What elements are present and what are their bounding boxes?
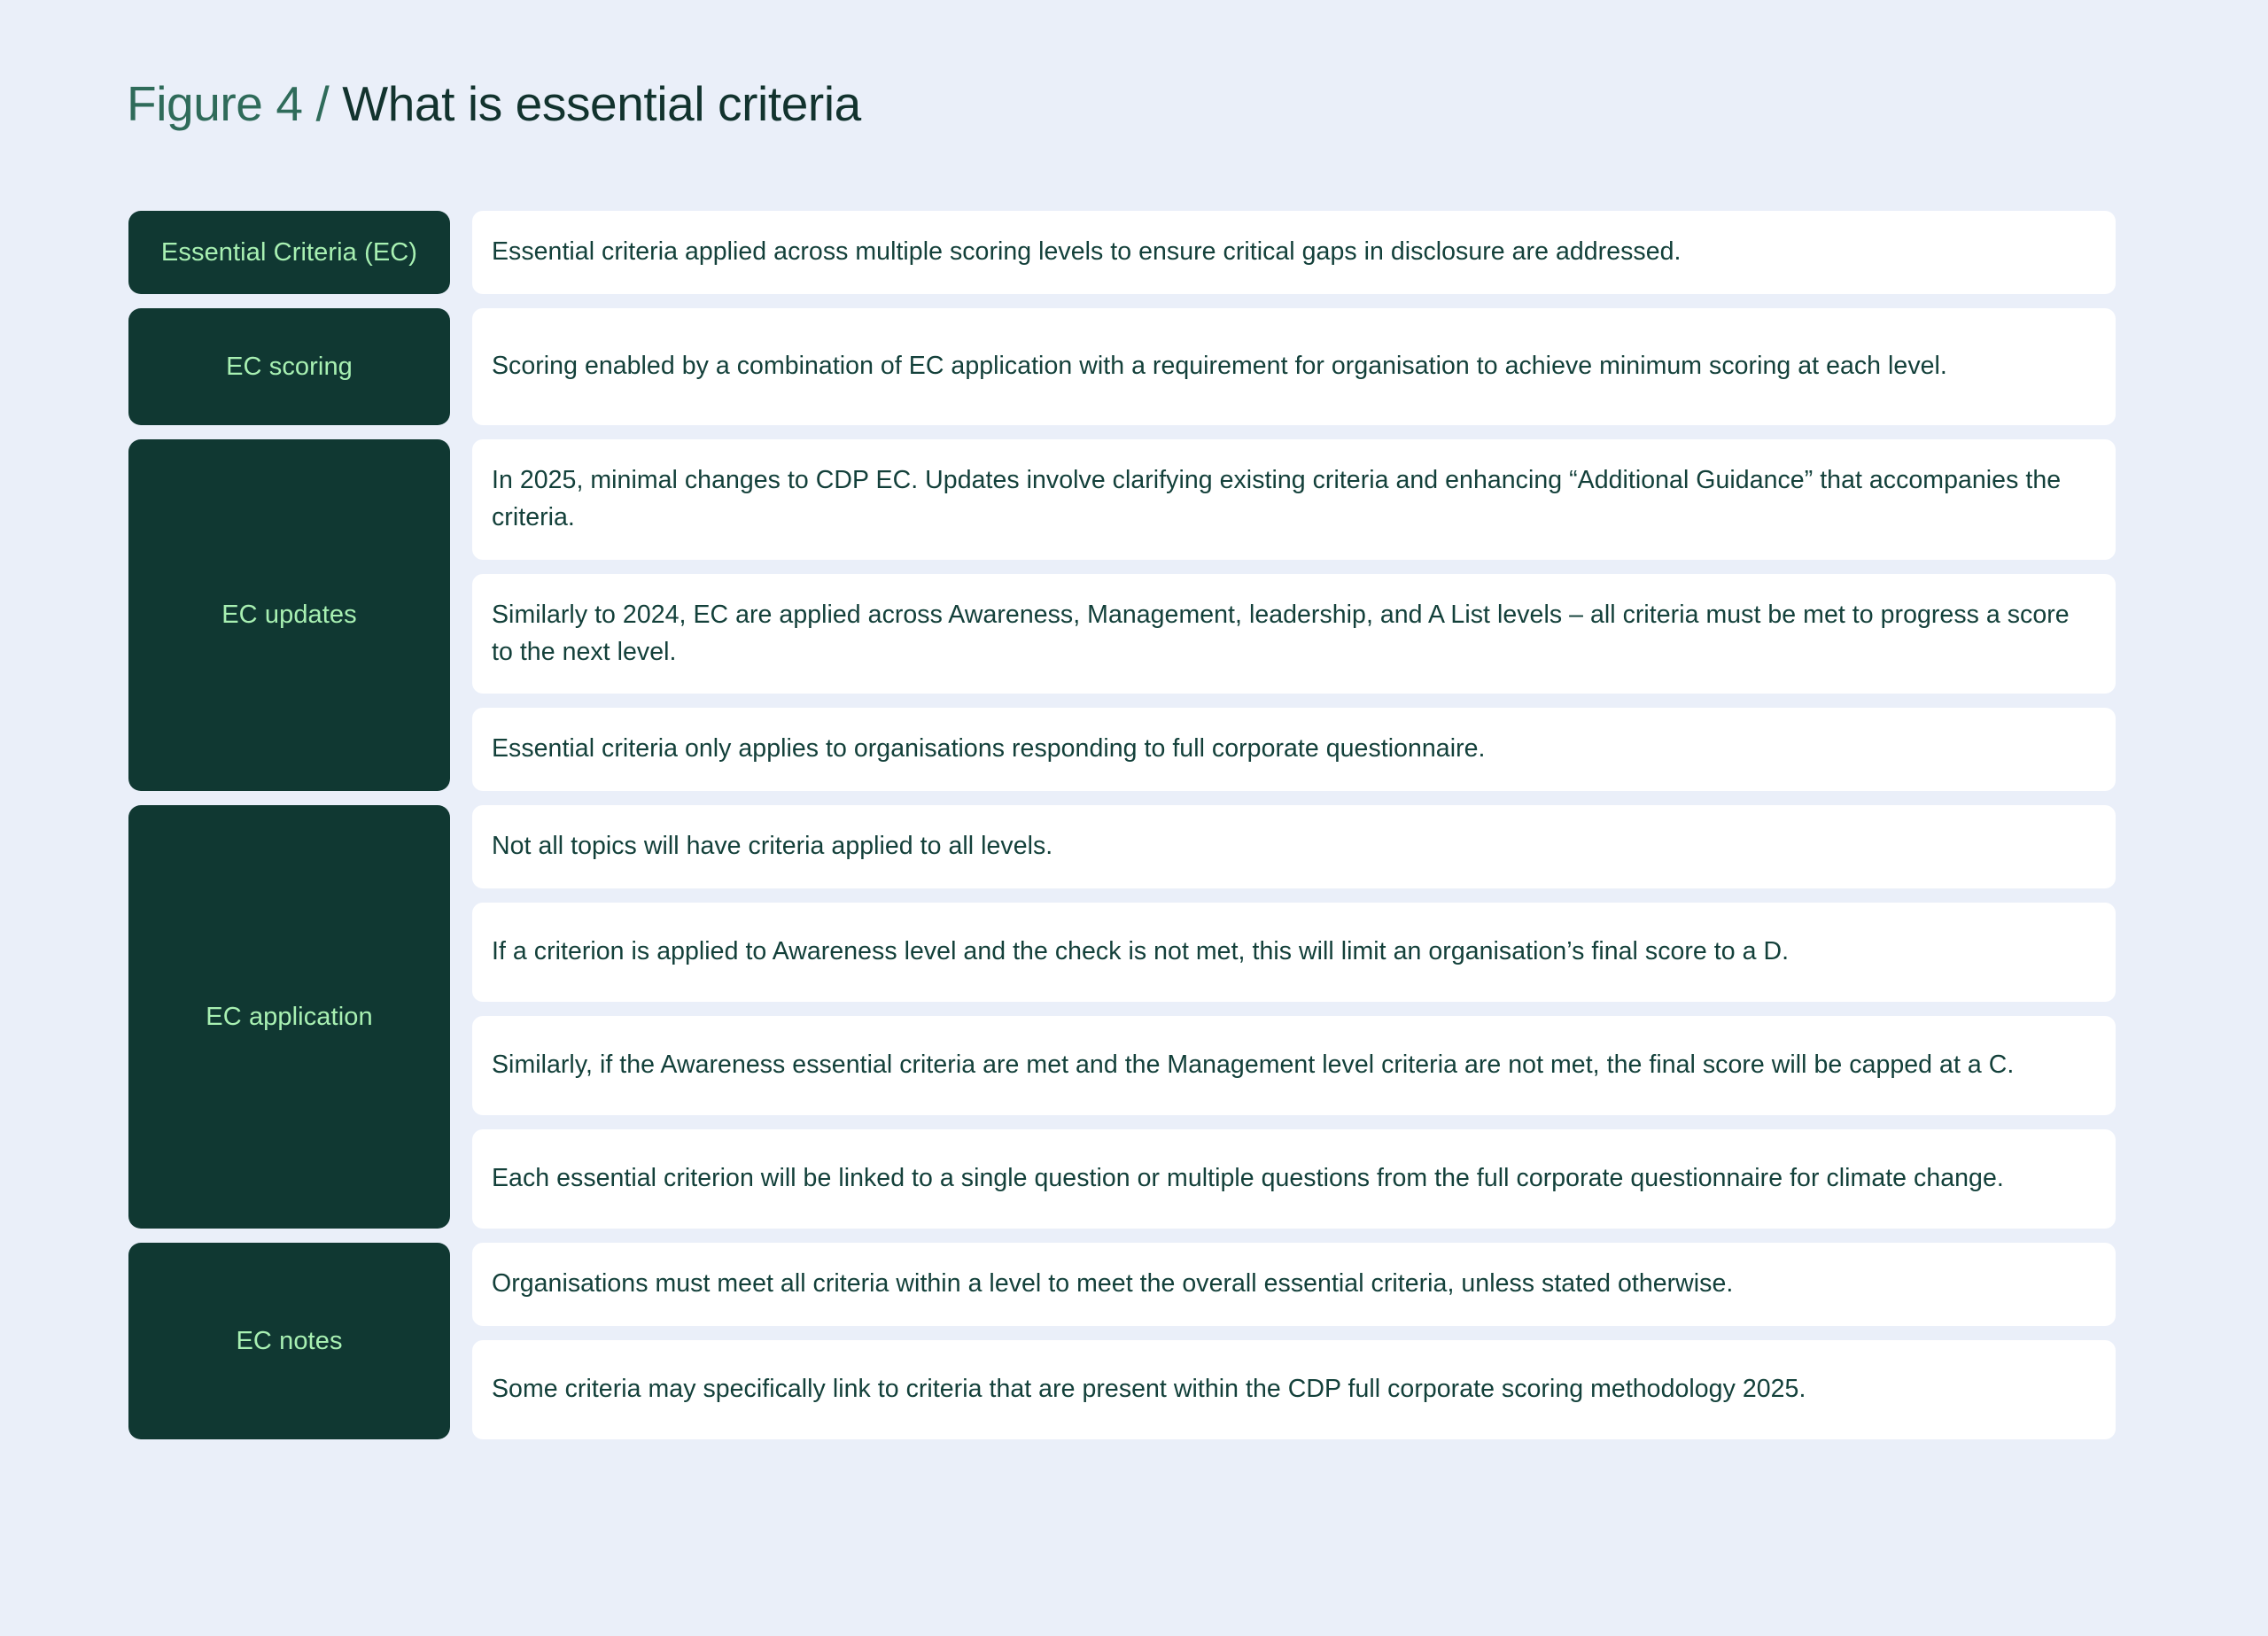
- content-card: Essential criteria applied across multip…: [472, 211, 2116, 294]
- row-label-ec-updates: EC updates: [128, 439, 450, 791]
- content-card: Each essential criterion will be linked …: [472, 1129, 2116, 1229]
- row-label-text: EC scoring: [226, 351, 353, 383]
- card-text: Similarly to 2024, EC are applied across…: [492, 597, 2094, 671]
- page-title: Figure 4 / What is essential criteria: [127, 76, 861, 132]
- row-label-text: Essential Criteria (EC): [161, 236, 417, 268]
- card-text: Essential criteria only applies to organ…: [492, 731, 1486, 768]
- matrix-row-ec-scoring: EC scoring Scoring enabled by a combinat…: [128, 308, 2116, 425]
- content-card: Essential criteria only applies to organ…: [472, 708, 2116, 791]
- row-cards-essential-criteria: Essential criteria applied across multip…: [472, 211, 2116, 294]
- content-card: If a criterion is applied to Awareness l…: [472, 903, 2116, 1002]
- row-label-text: EC updates: [221, 599, 357, 631]
- content-card: In 2025, minimal changes to CDP EC. Upda…: [472, 439, 2116, 560]
- matrix-row-ec-application: EC application Not all topics will have …: [128, 805, 2116, 1229]
- card-text: Not all topics will have criteria applie…: [492, 828, 1052, 865]
- row-cards-ec-notes: Organisations must meet all criteria wit…: [472, 1243, 2116, 1439]
- content-card: Not all topics will have criteria applie…: [472, 805, 2116, 888]
- card-text: If a criterion is applied to Awareness l…: [492, 934, 1789, 971]
- figure-number: Figure 4 /: [127, 76, 342, 131]
- card-text: Similarly, if the Awareness essential cr…: [492, 1047, 2014, 1084]
- row-label-ec-notes: EC notes: [128, 1243, 450, 1439]
- row-cards-ec-updates: In 2025, minimal changes to CDP EC. Upda…: [472, 439, 2116, 791]
- card-text: Organisations must meet all criteria wit…: [492, 1266, 1733, 1303]
- matrix-row-ec-notes: EC notes Organisations must meet all cri…: [128, 1243, 2116, 1439]
- content-card: Scoring enabled by a combination of EC a…: [472, 308, 2116, 425]
- row-label-ec-application: EC application: [128, 805, 450, 1229]
- row-cards-ec-application: Not all topics will have criteria applie…: [472, 805, 2116, 1229]
- criteria-matrix: Essential Criteria (EC) Essential criter…: [128, 211, 2116, 1439]
- figure-heading: What is essential criteria: [342, 76, 861, 131]
- row-label-text: EC notes: [236, 1325, 342, 1357]
- card-text: Some criteria may specifically link to c…: [492, 1371, 1806, 1408]
- card-text: Scoring enabled by a combination of EC a…: [492, 348, 1947, 385]
- row-label-text: EC application: [206, 1001, 372, 1033]
- content-card: Similarly, if the Awareness essential cr…: [472, 1016, 2116, 1115]
- matrix-row-ec-updates: EC updates In 2025, minimal changes to C…: [128, 439, 2116, 791]
- row-cards-ec-scoring: Scoring enabled by a combination of EC a…: [472, 308, 2116, 425]
- content-card: Some criteria may specifically link to c…: [472, 1340, 2116, 1439]
- content-card: Organisations must meet all criteria wit…: [472, 1243, 2116, 1326]
- content-card: Similarly to 2024, EC are applied across…: [472, 574, 2116, 694]
- card-text: Essential criteria applied across multip…: [492, 234, 1681, 271]
- row-label-essential-criteria: Essential Criteria (EC): [128, 211, 450, 294]
- matrix-row-essential-criteria: Essential Criteria (EC) Essential criter…: [128, 211, 2116, 294]
- card-text: Each essential criterion will be linked …: [492, 1160, 2004, 1198]
- figure-page: Figure 4 / What is essential criteria Es…: [0, 0, 2268, 1636]
- row-label-ec-scoring: EC scoring: [128, 308, 450, 425]
- card-text: In 2025, minimal changes to CDP EC. Upda…: [492, 462, 2094, 537]
